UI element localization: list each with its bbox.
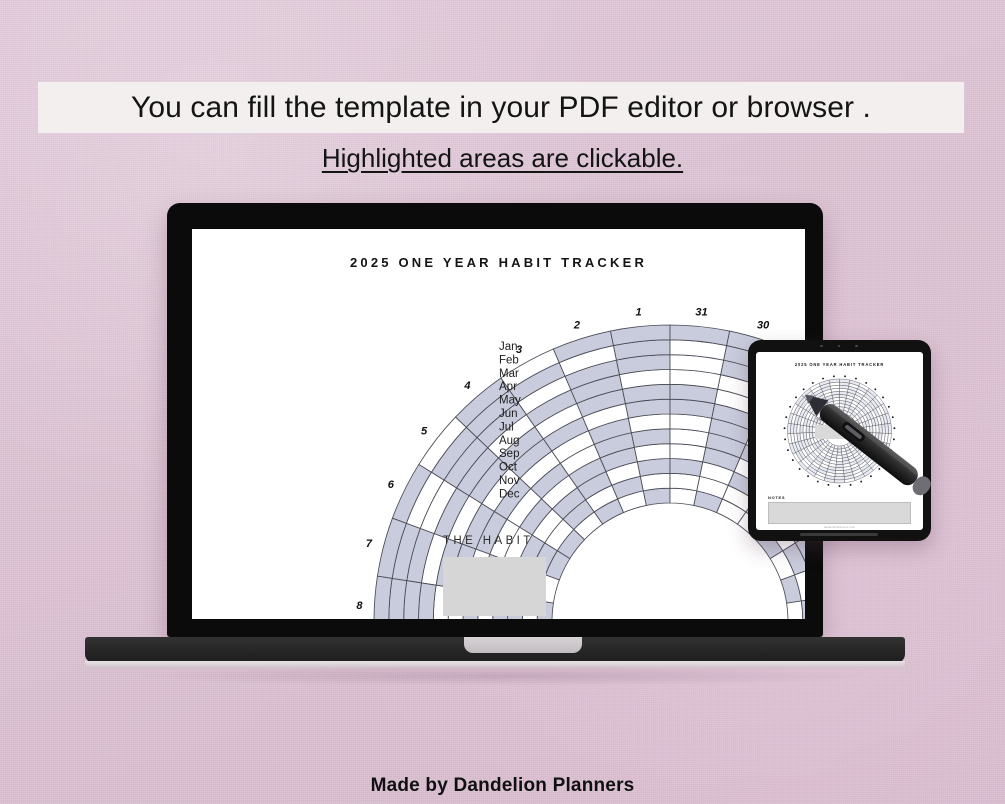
headline-highlight-band: You can fill the template in your PDF ed…	[38, 82, 964, 133]
day-label-8: 8	[356, 600, 363, 612]
month-label-dec: Dec	[499, 488, 520, 500]
month-label-feb: Feb	[499, 354, 519, 366]
laptop-drop-shadow	[120, 666, 880, 686]
laptop-screen[interactable]: 2025 ONE YEAR HABIT TRACKER 123456783031…	[192, 229, 805, 619]
headline-secondary-text: Highlighted areas are clickable.	[0, 143, 1005, 174]
tablet-notes-label: NOTES	[768, 495, 785, 500]
day-label-5: 5	[421, 426, 428, 438]
habit-label: THE HABIT	[443, 535, 534, 547]
month-label-oct: Oct	[499, 462, 518, 474]
tablet-page-title: 2025 ONE YEAR HABIT TRACKER	[756, 362, 923, 367]
day-label-31: 31	[695, 307, 707, 319]
stylus-pen-icon	[790, 378, 950, 518]
month-label-mar: Mar	[499, 368, 519, 380]
month-label-nov: Nov	[499, 475, 520, 487]
day-label-30: 30	[757, 319, 770, 331]
day-label-7: 7	[366, 538, 373, 550]
day-label-4: 4	[463, 380, 470, 392]
day-label-1: 1	[635, 307, 641, 319]
month-label-jun: Jun	[499, 408, 518, 420]
footer-credit: Made by Dandelion Planners	[0, 775, 1005, 797]
tablet-camera-dots	[820, 344, 858, 348]
day-label-2: 2	[573, 319, 580, 331]
day-label-6: 6	[388, 479, 395, 491]
laptop-base-notch	[464, 637, 582, 653]
month-label-sep: Sep	[499, 448, 519, 460]
month-label-jul: Jul	[499, 421, 514, 433]
tablet-footer-text: dandelionplanners.com	[756, 526, 923, 529]
month-label-jan: Jan	[499, 341, 518, 353]
month-label-aug: Aug	[499, 435, 519, 447]
headline-primary-text: You can fill the template in your PDF ed…	[131, 91, 871, 125]
month-label-apr: Apr	[499, 381, 517, 393]
month-label-may: May	[499, 395, 521, 407]
tablet-home-indicator	[800, 533, 878, 536]
habit-name-input[interactable]	[443, 557, 546, 616]
